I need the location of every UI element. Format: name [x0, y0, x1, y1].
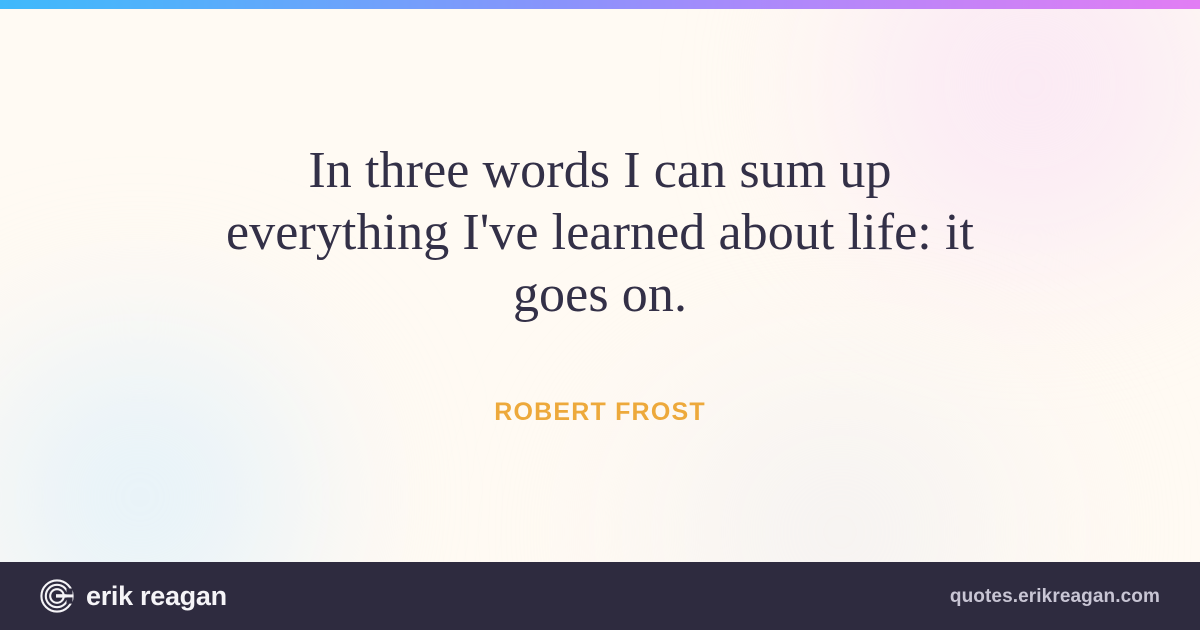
quote-content: In three words I can sum up everything I…	[0, 9, 1200, 562]
site-url[interactable]: quotes.erikreagan.com	[950, 587, 1160, 606]
concentric-e-logo-icon	[40, 579, 74, 613]
quote-card: In three words I can sum up everything I…	[0, 0, 1200, 630]
footer-bar: erik reagan quotes.erikreagan.com	[0, 562, 1200, 630]
quote-author: ROBERT FROST	[494, 398, 706, 427]
quote-text: In three words I can sum up everything I…	[200, 140, 1000, 326]
brand-lockup[interactable]: erik reagan	[40, 579, 227, 613]
brand-name: erik reagan	[86, 583, 227, 610]
top-gradient-bar	[0, 0, 1200, 9]
